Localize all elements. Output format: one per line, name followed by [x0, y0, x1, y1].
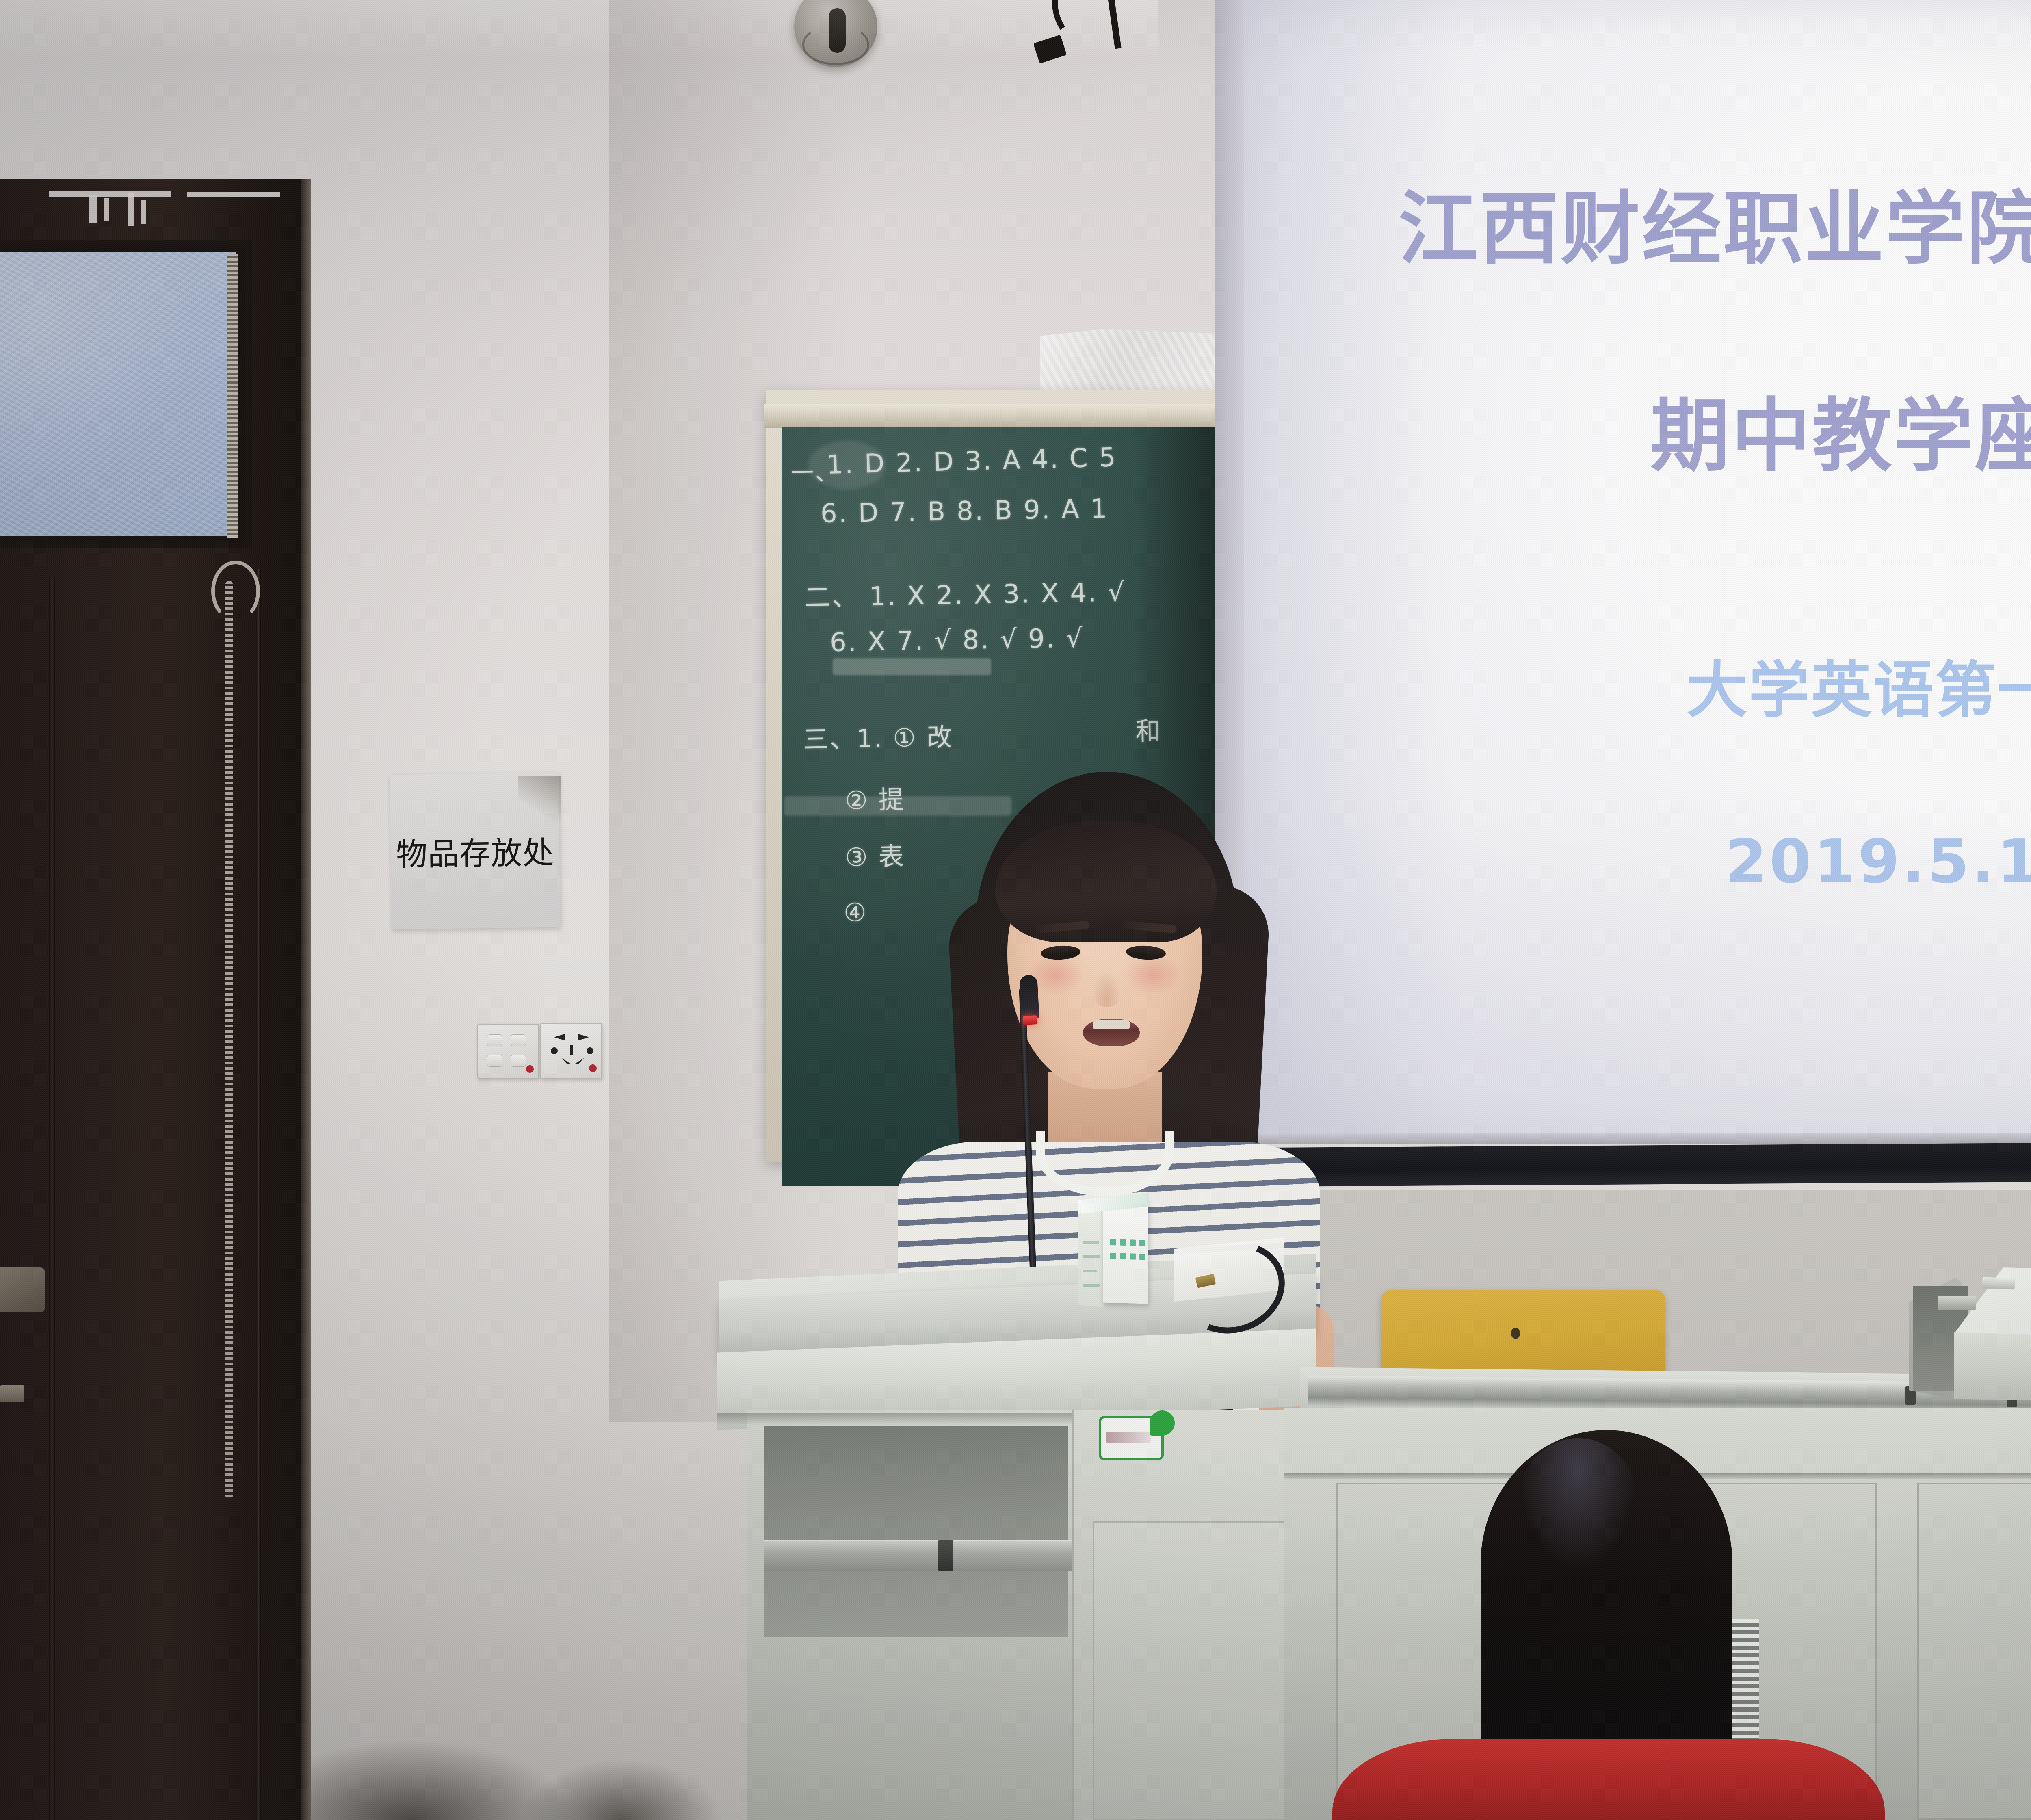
door-latch[interactable]: [0, 1385, 24, 1402]
asset-tag-text-line: [1106, 1432, 1151, 1443]
brand-logo-icon: [589, 1064, 597, 1072]
chalk-line: 三、1. ① 改: [803, 717, 953, 756]
chalk-line: ④: [843, 897, 868, 927]
ceiling-strip: [0, 0, 1158, 61]
door-paint-chips: [24, 191, 252, 240]
door-panel-seam: [49, 577, 55, 1820]
presenter-cheek: [1125, 955, 1182, 995]
screen-vignette: [1244, 0, 2031, 1133]
outlet-slot: [561, 1058, 570, 1064]
outlet-pin-hole: [587, 1047, 593, 1054]
chalk-ledge: [764, 404, 1247, 428]
presenter-fringe: [995, 821, 1217, 942]
chair-screw: [1511, 1328, 1520, 1339]
right-desk-clip: [1982, 1277, 2015, 1290]
light-switch-rocker[interactable]: [511, 1034, 526, 1046]
sign-corner-smudge: [518, 776, 561, 823]
white-carton-green-print[interactable]: [1103, 1199, 1148, 1304]
chalk-smudge: [833, 658, 991, 675]
audience-shoulders: [1332, 1739, 1885, 1820]
storage-area-sign-label: 物品存放处: [396, 828, 554, 875]
podium-drawer[interactable]: [1093, 1521, 1316, 1820]
power-outlet[interactable]: [540, 1023, 602, 1079]
presenter-nose: [1093, 971, 1121, 1007]
light-switch-rocker[interactable]: [487, 1034, 502, 1046]
outlet-slot: [578, 1034, 589, 1040]
presenter-teeth: [1093, 1020, 1130, 1029]
chalk-line: 6. X 7. √ 8. √ 9. √: [829, 623, 1084, 658]
door-panel-seam: [256, 569, 261, 1820]
chalk-smudge: [808, 441, 886, 490]
podium-open-cavity: [764, 1426, 1068, 1637]
door-glass-texture: [0, 252, 236, 536]
outlet-pin-hole: [551, 1047, 558, 1054]
right-desk-apron: [1954, 1332, 2031, 1410]
outlet-ground-slot: [570, 1045, 573, 1055]
outlet-slot: [554, 1034, 565, 1040]
audience-hair-highlight: [1517, 1438, 1639, 1572]
chalk-line: 二、 1. X 2. X 3. X 4. √: [804, 571, 1126, 614]
door-handle[interactable]: [0, 1267, 45, 1312]
asset-tag-seal-icon: [1150, 1410, 1175, 1436]
brand-logo-icon: [526, 1065, 534, 1073]
hanging-chain-loop: [211, 561, 260, 622]
four-gang-light-switch[interactable]: [477, 1024, 539, 1079]
light-switch-rocker[interactable]: [511, 1055, 526, 1067]
chalk-line: 6. D 7. B 8. B 9. A 1: [820, 494, 1109, 529]
right-desk-latch[interactable]: [1938, 1296, 1976, 1310]
desk-bank-cabinet-door[interactable]: [1917, 1483, 2031, 1820]
door-frame-edge: [301, 179, 311, 1820]
projection-screen[interactable]: 江西财经职业学院外国语学院 期中教学座谈会 大学英语第一教研室 2019.5.1…: [1244, 0, 2031, 1166]
light-switch-rocker[interactable]: [487, 1055, 502, 1067]
screen-bottom-trim: [1240, 1133, 2031, 1144]
podium-rail-tab[interactable]: [938, 1540, 953, 1571]
door-window-hinge: [227, 254, 238, 538]
hanging-chain: [225, 581, 233, 1499]
microphone-status-led: [1022, 1015, 1037, 1025]
classroom-photo: 一、1. D 2. D 3. A 4. C 56. D 7. B 8. B 9.…: [0, 0, 2031, 1820]
microphone-capsule: [1019, 975, 1039, 1020]
bell-rim: [802, 24, 869, 65]
wall-scuff-mark: [520, 1759, 723, 1820]
outlet-slot: [575, 1058, 584, 1064]
screen-weight-bar: [1240, 1139, 2031, 1187]
